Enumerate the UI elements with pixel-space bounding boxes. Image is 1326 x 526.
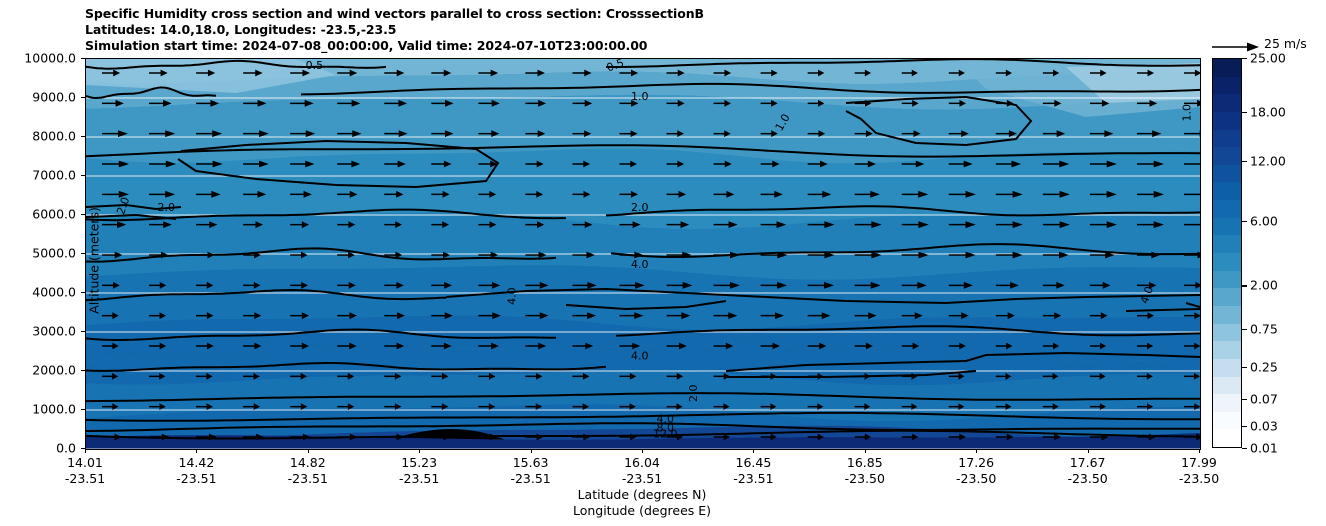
x-tick-label: 14.82-23.51 — [288, 455, 328, 486]
x-axis-ticks — [85, 449, 1199, 454]
title-line-3: Simulation start time: 2024-07-08_00:00:… — [85, 38, 704, 54]
x-tick-lat: 17.99 — [1179, 455, 1219, 470]
x-tick-label: 17.99-23.50 — [1179, 455, 1219, 486]
x-tick-mark — [976, 449, 977, 453]
colorbar-band — [1213, 341, 1241, 359]
contour-line — [86, 413, 1200, 421]
colorbar-tick-label: 25.00 — [1250, 51, 1286, 66]
y-tick-mark — [81, 175, 85, 176]
x-tick-lon: -23.50 — [956, 471, 996, 486]
colorbar-band — [1213, 306, 1241, 324]
svg-text:12.0: 12.0 — [653, 427, 678, 440]
colorbar-tick-mark — [1242, 58, 1247, 59]
y-tick-mark — [81, 214, 85, 215]
y-tick-label: 4000.0 — [32, 285, 76, 300]
y-tick-label: 1000.0 — [32, 402, 76, 417]
contour-line — [846, 97, 1031, 145]
y-axis-labels: 10000.09000.08000.07000.06000.05000.0400… — [0, 58, 76, 448]
colorbar-band — [1213, 165, 1241, 183]
y-tick-mark — [81, 409, 85, 410]
svg-text:2.0: 2.0 — [114, 195, 132, 216]
quiver-key-label: 25 m/s — [1264, 36, 1307, 51]
x-tick-lon: -23.51 — [622, 471, 662, 486]
colorbar-band — [1213, 429, 1241, 447]
colorbar-band — [1213, 130, 1241, 148]
y-tick-label: 3000.0 — [32, 324, 76, 339]
contour-line — [616, 326, 1200, 336]
colorbar-tick-label: 12.00 — [1250, 153, 1286, 168]
colorbar-labels: 25.0018.0012.006.002.000.750.250.070.030… — [1250, 58, 1324, 448]
contour-line — [86, 248, 556, 261]
contour-line — [606, 59, 1200, 67]
contour-label: 4.0 — [628, 256, 652, 271]
contour-line — [301, 84, 1200, 95]
colorbar-band — [1213, 412, 1241, 430]
contour-line — [86, 363, 606, 371]
colorbar-band — [1213, 324, 1241, 342]
contour-line — [86, 145, 1200, 156]
y-tick-mark — [81, 253, 85, 254]
colorbar-band — [1213, 182, 1241, 200]
contour-lines: 0.50.51.01.01.02.02.02.04.04.04.04.02.04… — [86, 59, 1200, 449]
colorbar-band — [1213, 235, 1241, 253]
x-tick-mark — [642, 449, 643, 453]
colorbar-tick-mark — [1242, 399, 1247, 400]
svg-text:4.0: 4.0 — [506, 287, 519, 305]
x-tick-mark — [308, 449, 309, 453]
svg-text:4.0: 4.0 — [1138, 285, 1156, 306]
colorbar-band — [1213, 77, 1241, 95]
x-tick-lon: -23.50 — [1067, 471, 1107, 486]
colorbar-tick-mark — [1242, 161, 1247, 162]
y-tick-mark — [81, 97, 85, 98]
contour-line — [566, 301, 726, 309]
svg-text:4.0: 4.0 — [631, 258, 649, 271]
colorbar-band — [1213, 359, 1241, 377]
y-tick-label: 9000.0 — [32, 90, 76, 105]
x-tick-lat: 16.45 — [733, 455, 773, 470]
svg-text:0.5: 0.5 — [605, 59, 626, 74]
colorbar-band — [1213, 253, 1241, 271]
contour-line — [1186, 303, 1200, 307]
svg-text:1.0: 1.0 — [631, 90, 649, 103]
contour-line — [446, 289, 1200, 303]
contour-line — [1126, 309, 1200, 311]
x-tick-lat: 17.26 — [956, 455, 996, 470]
colorbar-band — [1213, 377, 1241, 395]
x-tick-mark — [85, 449, 86, 453]
contour-label: 1.0 — [770, 108, 795, 136]
x-tick-lat: 14.01 — [65, 455, 105, 470]
x-tick-lon: -23.50 — [845, 471, 885, 486]
colorbar-band — [1213, 59, 1241, 77]
contour-label: 0.5 — [303, 59, 327, 72]
y-tick-mark — [81, 370, 85, 371]
contour-line — [86, 290, 446, 300]
contour-line — [86, 423, 1200, 431]
svg-text:1.0: 1.0 — [773, 112, 793, 134]
colorbar-band — [1213, 218, 1241, 236]
x-tick-lon: -23.50 — [1179, 471, 1219, 486]
svg-text:4.0: 4.0 — [631, 349, 649, 362]
contour-line — [611, 244, 1200, 257]
colorbar-band — [1213, 288, 1241, 306]
x-axis-title-lon: Longitude (degrees E) — [85, 503, 1199, 519]
y-tick-mark — [81, 58, 85, 59]
x-tick-lat: 17.67 — [1067, 455, 1107, 470]
contour-label: 4.0 — [628, 348, 652, 363]
y-axis-title: Altitude (meters) — [87, 161, 102, 361]
x-tick-label: 14.01-23.51 — [65, 455, 105, 486]
x-tick-label: 15.23-23.51 — [399, 455, 439, 486]
x-tick-label: 14.42-23.51 — [176, 455, 216, 486]
colorbar-tick-label: 6.00 — [1250, 213, 1278, 228]
contour-line — [606, 206, 1200, 215]
contour-label: 1.0 — [628, 89, 652, 104]
x-tick-mark — [196, 449, 197, 453]
contour-label: 2.0 — [628, 200, 652, 215]
x-tick-lat: 15.23 — [399, 455, 439, 470]
svg-text:1.0: 1.0 — [1181, 104, 1194, 122]
x-tick-label: 16.45-23.51 — [733, 455, 773, 486]
x-tick-lon: -23.51 — [399, 471, 439, 486]
contour-line — [86, 88, 216, 99]
x-tick-lon: -23.51 — [288, 471, 328, 486]
x-tick-mark — [1199, 449, 1200, 453]
colorbar-tick-mark — [1242, 426, 1247, 427]
colorbar-tick-label: 0.03 — [1250, 419, 1278, 434]
colorbar-band — [1213, 271, 1241, 289]
svg-text:0.5: 0.5 — [306, 59, 324, 72]
x-tick-label: 17.67-23.50 — [1067, 455, 1107, 486]
x-tick-lat: 15.63 — [510, 455, 550, 470]
colorbar-tick-mark — [1242, 221, 1247, 222]
y-tick-label: 5000.0 — [32, 246, 76, 261]
contour-line — [86, 393, 1200, 401]
contour-line — [86, 61, 386, 69]
x-tick-lon: -23.51 — [510, 471, 550, 486]
contour-line — [726, 353, 1200, 371]
x-tick-lat: 14.82 — [288, 455, 328, 470]
colorbar-tick-label: 0.01 — [1250, 441, 1278, 456]
y-tick-label: 8000.0 — [32, 129, 76, 144]
x-tick-label: 16.85-23.50 — [845, 455, 885, 486]
contour-label: 1.0 — [1179, 101, 1194, 125]
x-tick-lat: 14.42 — [176, 455, 216, 470]
contour-label: 12.0 — [650, 426, 680, 441]
colorbar-tick-label: 18.00 — [1250, 105, 1286, 120]
colorbar-tick-label: 0.07 — [1250, 392, 1278, 407]
y-tick-mark — [81, 136, 85, 137]
x-axis-title-lat: Latitude (degrees N) — [85, 487, 1199, 503]
chart-root: Specific Humidity cross section and wind… — [0, 0, 1326, 526]
x-axis-labels: 14.01-23.5114.42-23.5114.82-23.5115.23-2… — [85, 455, 1199, 489]
y-tick-label: 6000.0 — [32, 207, 76, 222]
x-tick-lat: 16.04 — [622, 455, 662, 470]
x-tick-lon: -23.51 — [65, 471, 105, 486]
colorbar-tick-label: 2.00 — [1250, 278, 1278, 293]
x-tick-mark — [753, 449, 754, 453]
x-tick-label: 15.63-23.51 — [510, 455, 550, 486]
x-tick-label: 17.26-23.50 — [956, 455, 996, 486]
title-line-1: Specific Humidity cross section and wind… — [85, 6, 704, 22]
x-tick-label: 16.04-23.51 — [622, 455, 662, 486]
colorbar-tick-mark — [1242, 367, 1247, 368]
colorbar — [1212, 58, 1242, 448]
colorbar-tick-mark — [1242, 285, 1247, 286]
y-tick-label: 0.0 — [56, 441, 76, 456]
x-tick-mark — [531, 449, 532, 453]
svg-text:2.0: 2.0 — [631, 201, 649, 214]
contour-label: 2.0 — [154, 200, 178, 215]
contour-line — [726, 371, 976, 377]
contour-label: 0.5 — [601, 59, 628, 76]
y-tick-mark — [81, 292, 85, 293]
svg-text:2.0: 2.0 — [157, 201, 175, 214]
colorbar-band — [1213, 112, 1241, 130]
x-tick-mark — [419, 449, 420, 453]
colorbar-tick-mark — [1242, 329, 1247, 330]
x-tick-lon: -23.51 — [733, 471, 773, 486]
x-tick-mark — [1088, 449, 1089, 453]
contour-line — [86, 431, 1200, 439]
colorbar-band — [1213, 147, 1241, 165]
chart-title: Specific Humidity cross section and wind… — [85, 6, 704, 55]
colorbar-tick-label: 0.25 — [1250, 359, 1278, 374]
x-axis-title: Latitude (degrees N) Longitude (degrees … — [85, 487, 1199, 519]
colorbar-band — [1213, 94, 1241, 112]
title-line-2: Latitudes: 14.0,18.0, Longitudes: -23.5,… — [85, 22, 704, 38]
colorbar-band — [1213, 394, 1241, 412]
colorbar-tick-label: 0.75 — [1250, 321, 1278, 336]
x-tick-mark — [865, 449, 866, 453]
svg-text:2.0: 2.0 — [687, 384, 700, 402]
colorbar-ticks — [1242, 58, 1248, 448]
colorbar-tick-mark — [1242, 448, 1247, 449]
x-tick-lon: -23.51 — [176, 471, 216, 486]
y-tick-mark — [81, 331, 85, 332]
x-tick-lat: 16.85 — [845, 455, 885, 470]
contour-line — [86, 330, 556, 341]
y-axis-ticks — [81, 58, 86, 448]
y-tick-label: 7000.0 — [32, 168, 76, 183]
contour-label: 4.0 — [504, 284, 519, 308]
contour-label: 2.0 — [686, 381, 701, 405]
colorbar-tick-mark — [1242, 112, 1247, 113]
y-tick-label: 2000.0 — [32, 363, 76, 378]
plot-area: 0.50.51.01.01.02.02.02.04.04.04.04.02.04… — [85, 58, 1201, 450]
y-tick-label: 10000.0 — [24, 51, 76, 66]
colorbar-band — [1213, 200, 1241, 218]
